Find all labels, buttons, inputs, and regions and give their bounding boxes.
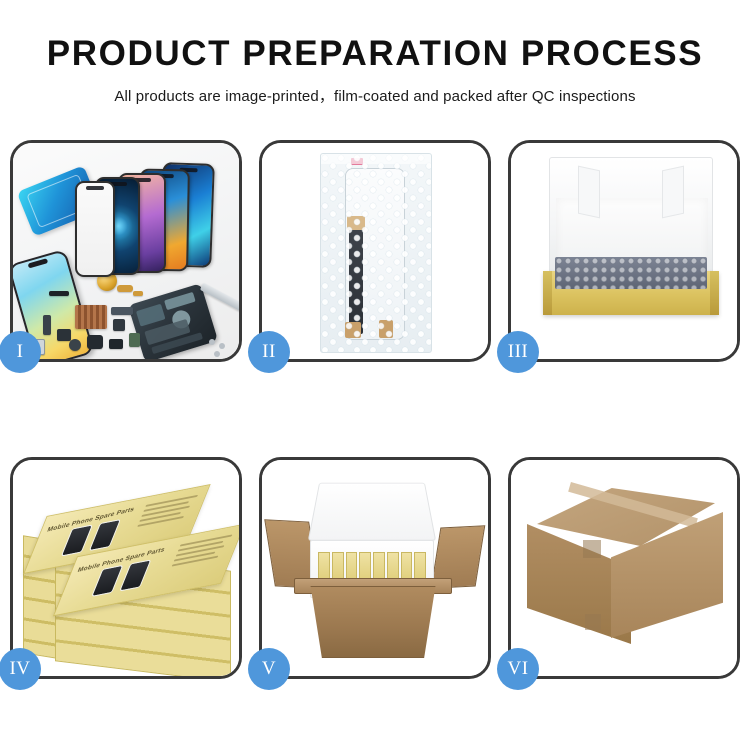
lid-flap-left <box>578 166 600 219</box>
step-badge-4: IV <box>0 648 41 690</box>
bubble-wrapped-contents <box>555 257 707 289</box>
phone-screen-1 <box>75 181 115 277</box>
box-artwork-phone <box>119 559 151 591</box>
yellow-inner-box <box>543 271 719 315</box>
internal-component <box>136 304 166 327</box>
poster-root: PRODUCT PREPARATION PROCESS All products… <box>0 0 750 750</box>
step-panel-4[interactable]: Mobile Phone Spare Parts Mobile Phone <box>10 457 242 679</box>
header: PRODUCT PREPARATION PROCESS All products… <box>0 0 750 106</box>
step-image-1 <box>13 143 239 359</box>
spare-part <box>69 339 81 351</box>
step-badge-1: I <box>0 331 41 373</box>
box-stack: Mobile Phone Spare Parts Mobile Phone <box>19 482 239 670</box>
step-image-6 <box>511 460 737 676</box>
bubble-wrap-bag <box>320 153 432 353</box>
step-badge-3: III <box>497 331 539 373</box>
sealed-carton <box>527 488 723 656</box>
step-image-5 <box>262 460 488 676</box>
spare-part <box>129 333 140 347</box>
carton-tape-patch <box>583 540 601 558</box>
spec-line <box>137 516 183 526</box>
step-panel-1[interactable]: I <box>10 140 242 362</box>
step-image-3 <box>511 143 737 359</box>
box-artwork-phone <box>89 519 121 551</box>
step-panel-5[interactable]: V <box>259 457 491 679</box>
bubble-texture <box>321 154 431 352</box>
spare-part <box>109 339 123 349</box>
step-badge-2: II <box>248 331 290 373</box>
page-title: PRODUCT PREPARATION PROCESS <box>0 36 750 73</box>
step-image-4: Mobile Phone Spare Parts Mobile Phone <box>13 460 239 676</box>
spare-part <box>87 335 103 349</box>
spare-part <box>113 319 125 331</box>
carton-body <box>302 586 444 658</box>
spare-part <box>133 291 143 296</box>
step-badge-6: VI <box>497 648 539 690</box>
box-spec-lines <box>166 534 233 580</box>
step-image-2 <box>262 143 488 359</box>
lid-flap-right <box>662 166 684 219</box>
spare-part <box>43 315 51 335</box>
step-panel-3[interactable]: III <box>508 140 740 362</box>
step-panel-6[interactable]: VI <box>508 457 740 679</box>
bag-seal <box>321 154 431 164</box>
chip-grid-part <box>75 305 107 329</box>
spare-part <box>57 329 71 341</box>
phone-screen-fan <box>65 161 239 281</box>
foam-box-lid <box>308 483 436 541</box>
process-grid: I II <box>10 140 740 685</box>
spare-part <box>117 285 133 292</box>
page-subtitle: All products are image-printed，film-coat… <box>0 85 750 106</box>
screws-icon <box>209 339 215 345</box>
step-panel-2[interactable]: II <box>259 140 491 362</box>
box-artwork-phone <box>61 524 93 556</box>
internal-component <box>164 292 196 310</box>
spare-part <box>49 291 69 296</box>
carton-tape-patch <box>585 614 601 630</box>
spare-part <box>111 307 133 315</box>
spec-line <box>172 556 218 566</box>
step-badge-5: V <box>248 648 290 690</box>
notch-icon <box>86 186 104 190</box>
box-artwork-phone <box>91 565 123 597</box>
